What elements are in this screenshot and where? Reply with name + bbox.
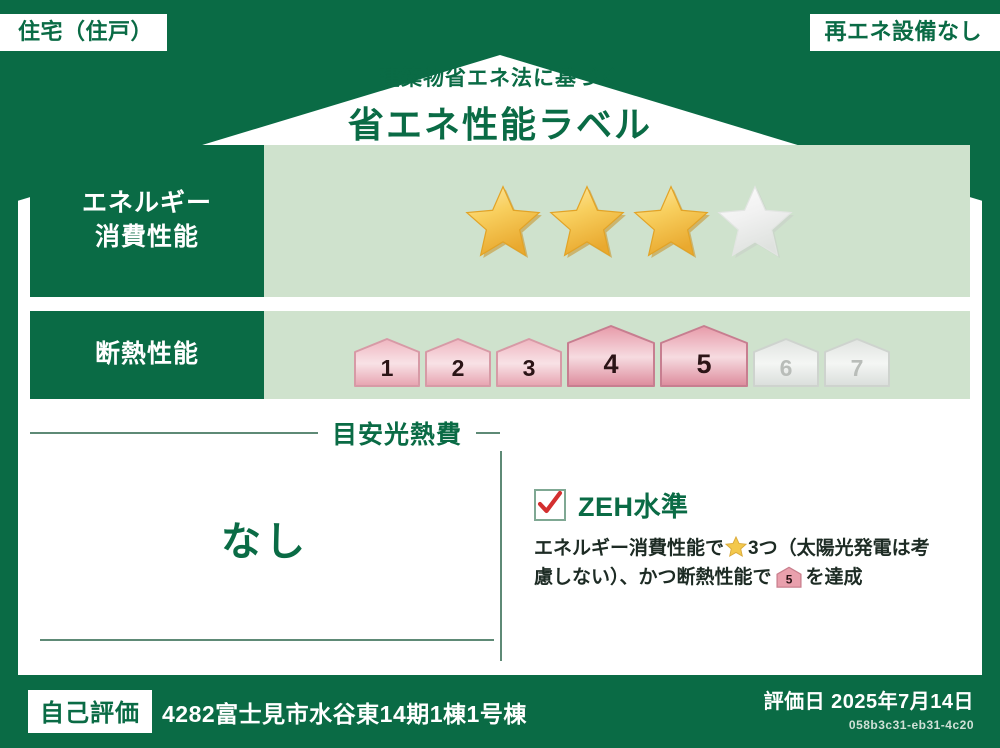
utility-cost-heading: 目安光熱費 bbox=[30, 415, 500, 451]
insulation-level-chip: 5 bbox=[660, 323, 748, 387]
thermal-performance-row: 断熱性能 1234567 bbox=[30, 311, 970, 399]
document-id: 058b3c31-eb31-4c20 bbox=[764, 718, 974, 733]
lower-section: なし ZEH水準 エネルギー消費性能で 3つ（太陽光発電は bbox=[30, 451, 970, 691]
heading-rule-left bbox=[30, 432, 318, 434]
check-icon bbox=[537, 489, 563, 519]
zeh-description: エネルギー消費性能で 3つ（太陽光発電は考慮しない）、かつ断熱性能で 5 を達成 bbox=[534, 534, 944, 593]
zeh-panel: ZEH水準 エネルギー消費性能で 3つ（太陽光発電は考慮しない）、かつ断熱性能で… bbox=[502, 451, 970, 691]
evaluation-date: 評価日 2025年7月14日 bbox=[764, 690, 974, 715]
heading-rule-right bbox=[476, 432, 500, 434]
insulation-level-chip: 4 bbox=[567, 323, 655, 387]
insulation-level-number: 5 bbox=[696, 351, 711, 387]
insulation-level-chip: 3 bbox=[496, 335, 562, 387]
insulation-level-chip: 7 bbox=[824, 335, 890, 387]
thermal-label-text: 断熱性能 bbox=[95, 338, 199, 372]
zeh-header: ZEH水準 bbox=[534, 485, 970, 524]
energy-performance-value bbox=[264, 145, 970, 297]
utility-cost-bottom-rule bbox=[40, 639, 494, 641]
thermal-performance-value: 1234567 bbox=[264, 311, 970, 399]
insulation-level-number: 4 bbox=[603, 351, 618, 387]
zeh-desc-part1: エネルギー消費性能で bbox=[534, 538, 724, 559]
label-footer: 自己評価 4282富士見市水谷東14期1棟1号棟 評価日 2025年7月14日 … bbox=[0, 675, 1000, 748]
energy-label-line1: エネルギー bbox=[82, 187, 212, 221]
star-icon-filled bbox=[632, 183, 710, 259]
insulation-level-chip: 2 bbox=[425, 335, 491, 387]
energy-performance-row: エネルギー 消費性能 bbox=[30, 145, 970, 297]
footer-right-group: 評価日 2025年7月14日 058b3c31-eb31-4c20 bbox=[764, 690, 974, 733]
building-type-tag: 住宅（住戸） bbox=[0, 14, 167, 51]
insulation-level-chip: 1 bbox=[354, 335, 420, 387]
zeh-title: ZEH水準 bbox=[578, 485, 689, 524]
label-content: エネルギー 消費性能 断熱性能 1234567 目安光熱費 なし bbox=[30, 145, 970, 663]
inline-star-icon bbox=[725, 536, 747, 557]
star-icon-filled bbox=[464, 183, 542, 259]
insulation-level-scale: 1234567 bbox=[354, 323, 890, 387]
energy-label-line2: 消費性能 bbox=[95, 221, 199, 255]
zeh-checkbox[interactable] bbox=[534, 489, 566, 521]
building-name: 4282富士見市水谷東14期1棟1号棟 bbox=[162, 695, 527, 729]
insulation-level-number: 2 bbox=[452, 357, 465, 387]
insulation-level-number: 1 bbox=[381, 357, 394, 387]
utility-cost-panel: なし bbox=[30, 451, 500, 691]
self-evaluation-badge: 自己評価 bbox=[28, 690, 152, 733]
energy-performance-label-chip: エネルギー 消費性能 bbox=[30, 145, 264, 297]
star-rating bbox=[464, 183, 794, 259]
inline-house-badge-icon: 5 bbox=[775, 566, 803, 588]
star-icon-empty bbox=[716, 183, 794, 259]
zeh-desc-part3: を達成 bbox=[806, 567, 863, 588]
insulation-level-number: 7 bbox=[851, 357, 864, 387]
footer-left-group: 自己評価 4282富士見市水谷東14期1棟1号棟 bbox=[28, 690, 527, 733]
renewable-equipment-tag: 再エネ設備なし bbox=[810, 14, 1000, 51]
insulation-level-number: 6 bbox=[780, 357, 793, 387]
inline-house-badge-number: 5 bbox=[785, 573, 792, 587]
energy-performance-label: 住宅（住戸） 再エネ設備なし 建築物省エネ法に基づく 省エネ性能ラベル エネルギ… bbox=[0, 0, 1000, 748]
utility-cost-value: なし bbox=[30, 509, 500, 567]
thermal-performance-label-chip: 断熱性能 bbox=[30, 311, 264, 399]
star-icon-filled bbox=[548, 183, 626, 259]
utility-cost-heading-text: 目安光熱費 bbox=[332, 415, 462, 451]
insulation-level-chip: 6 bbox=[753, 335, 819, 387]
insulation-level-number: 3 bbox=[523, 357, 536, 387]
